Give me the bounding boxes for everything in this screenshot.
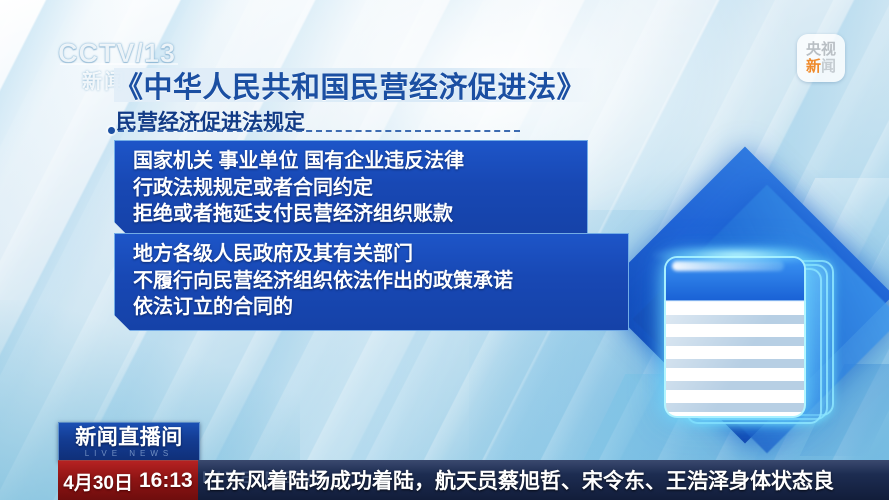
app-badge-line1: 央视 — [806, 42, 836, 57]
cctv-news-app-badge: 央视 新闻 — [797, 34, 845, 82]
program-banner: 新闻直播间 LIVE NEWS — [58, 422, 200, 462]
subtitle-bullet-dot — [108, 127, 115, 134]
provision-box-1-line-2: 行政法规规定或者合同约定 — [133, 175, 573, 202]
provision-box-1-line-1: 国家机关 事业单位 国有企业违反法律 — [133, 148, 573, 175]
program-name-en: LIVE NEWS — [85, 450, 174, 458]
provision-box-2-line-3: 依法订立的合同的 — [133, 294, 614, 321]
app-badge-line2: 新闻 — [806, 59, 836, 74]
app-badge-char-wen: 闻 — [821, 58, 836, 75]
document-top-gleam — [652, 244, 822, 266]
ticker-text: 在东风着陆场成功着陆，航天员蔡旭哲、宋令东、王浩泽身体状态良 — [198, 465, 834, 495]
provision-box-2-line-1: 地方各级人民政府及其有关部门 — [133, 241, 614, 268]
provision-box-1: 国家机关 事业单位 国有企业违反法律 行政法规规定或者合同约定 拒绝或者拖延支付… — [114, 140, 588, 238]
broadcast-date: 4月30日 — [63, 468, 133, 495]
subtitle-dotted-rule — [118, 130, 520, 132]
document-text-lines — [666, 302, 804, 416]
provision-box-1-line-3: 拒绝或者拖延支付民营经济组织账款 — [133, 201, 573, 228]
document-graphic — [600, 178, 889, 478]
provision-box-2: 地方各级人民政府及其有关部门 不履行向民营经济组织依法作出的政策承诺 依法订立的… — [114, 233, 629, 331]
broadcast-screen: CCTV/13 新闻 央视 新闻 《中华人民共和国民营经济促进法》 民营经济促进… — [0, 0, 889, 500]
headline-band: 《中华人民共和国民营经济促进法》 — [114, 68, 596, 102]
datetime-bar: 4月30日 16:13 — [58, 460, 198, 500]
broadcast-time: 16:13 — [139, 469, 193, 493]
news-ticker: LIVE NEWS 在东风着陆场成功着陆，航天员蔡旭哲、宋令东、王浩泽身体状态良 — [198, 460, 889, 500]
provision-box-2-line-2: 不履行向民营经济组织依法作出的政策承诺 — [133, 268, 614, 295]
app-badge-char-xin: 新 — [806, 58, 821, 75]
page-title: 《中华人民共和国民营经济促进法》 — [114, 64, 586, 106]
program-name-cn: 新闻直播间 — [75, 427, 183, 448]
document-icon — [664, 256, 806, 418]
